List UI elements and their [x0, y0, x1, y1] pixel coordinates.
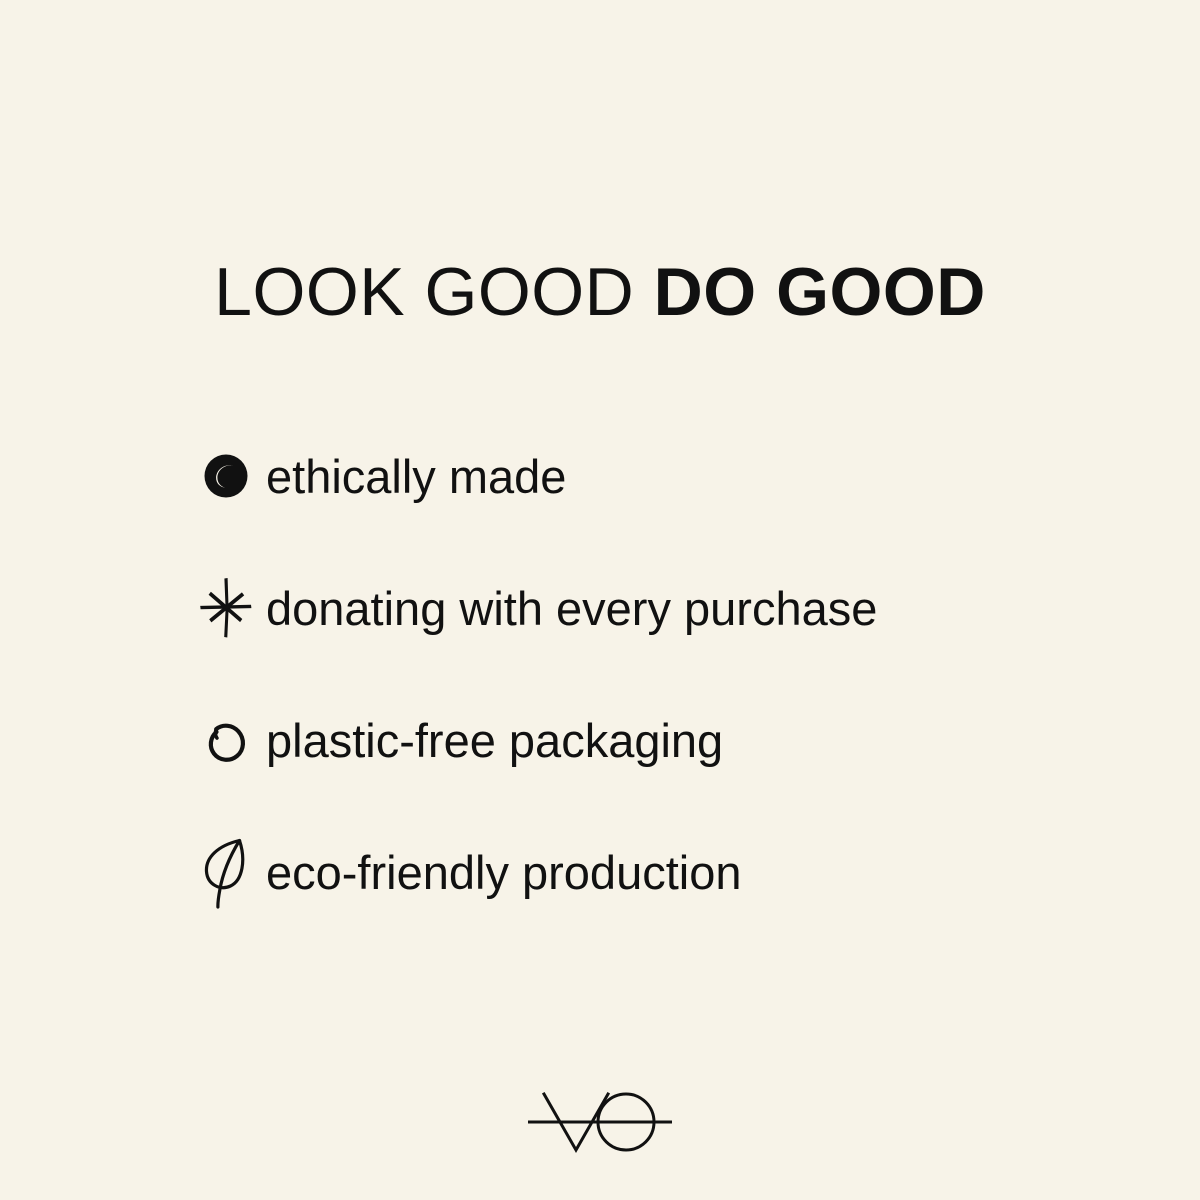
list-item-label: ethically made — [262, 453, 566, 500]
list-item: plastic-free packaging — [190, 674, 1090, 806]
crescent-circle-icon — [190, 440, 262, 512]
brand-logo — [0, 1086, 1200, 1158]
list-item: ethically made — [190, 410, 1090, 542]
page-title-bold: DO GOOD — [654, 254, 986, 330]
feature-list: ethically made donat — [190, 410, 1090, 938]
page-title: LOOK GOOD DO GOOD — [0, 258, 1200, 326]
list-item: donating with every purchase — [190, 542, 1090, 674]
poster-canvas: LOOK GOOD DO GOOD ethically made — [0, 0, 1200, 1200]
leaf-icon — [190, 836, 262, 908]
vo-monogram-logo — [520, 1086, 680, 1158]
list-item: eco-friendly production — [190, 806, 1090, 938]
open-ring-icon — [190, 704, 262, 776]
list-item-label: plastic-free packaging — [262, 717, 723, 764]
list-item-label: donating with every purchase — [262, 585, 877, 632]
list-item-label: eco-friendly production — [262, 849, 742, 896]
asterisk-sparkle-icon — [190, 572, 262, 644]
page-title-light: LOOK GOOD — [214, 254, 654, 330]
